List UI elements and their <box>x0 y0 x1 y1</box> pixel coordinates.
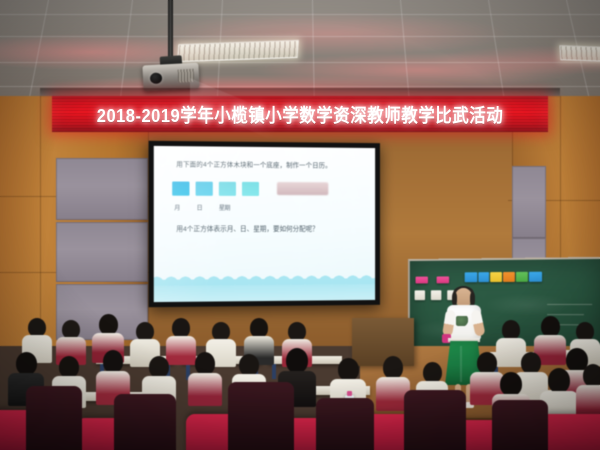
teacher-hair-right <box>470 292 475 306</box>
teacher-skirt-fold <box>460 346 462 382</box>
slide-cube-2 <box>196 181 213 195</box>
slide-base-block <box>277 182 328 195</box>
student <box>188 352 222 404</box>
blackboard-card-blue-2 <box>478 272 489 282</box>
slide-cube-3 <box>219 181 236 195</box>
foreground-student-head <box>26 386 82 450</box>
ceiling-red-reflection <box>0 0 600 96</box>
slide-question-1: 用下面的4个正方体木块和一个底座，制作一个日历。 <box>164 160 365 172</box>
event-banner: 2018-2019学年小榄镇小学数学资深教师教学比武活动 <box>52 96 548 132</box>
projector-lens-icon <box>150 72 163 84</box>
classroom-photo: 2018-2019学年小榄镇小学数学资深教师教学比武活动 用下面的4个正方体木块… <box>0 0 600 450</box>
acoustic-panel-left-1 <box>56 158 148 220</box>
student <box>576 364 600 420</box>
blackboard-card-pink-2 <box>437 276 450 283</box>
teacher-hair-left <box>452 292 457 306</box>
blackboard-card-pink-1 <box>416 277 428 284</box>
projector-vent <box>178 69 195 83</box>
classroom-chair <box>540 414 600 450</box>
slide-cube-1 <box>172 181 189 195</box>
event-banner-text: 2018-2019学年小榄镇小学数学资深教师教学比武活动 <box>97 101 503 128</box>
foreground-student-head <box>404 390 466 450</box>
slide-cube-row <box>164 181 365 196</box>
slide-label-weekday: 星期 <box>219 202 230 211</box>
blackboard-card-white-2 <box>431 290 442 300</box>
teacher-shirt-print <box>456 316 469 326</box>
blackboard-card-white-1 <box>415 290 425 300</box>
slide-label-month: 月 <box>174 202 180 211</box>
acoustic-panel-left-2 <box>56 222 148 282</box>
projection-screen: 用下面的4个正方体木块和一个底座，制作一个日历。 月 日 星期 用4个正方体表示… <box>154 146 375 302</box>
slide-cube-4 <box>242 181 259 195</box>
ceiling <box>0 0 600 96</box>
projection-screen-frame: 用下面的4个正方体木块和一个底座，制作一个日历。 月 日 星期 用4个正方体表示… <box>149 141 380 307</box>
slide-wave-decoration <box>154 278 375 302</box>
foreground-student-head <box>228 382 294 450</box>
blackboard-card-orange <box>503 272 515 282</box>
foreground-student-head <box>316 398 374 450</box>
slide-question-2: 用4个正方体表示月、日、星期，要如何分配呢？ <box>164 224 365 235</box>
foreground-student-head <box>114 394 176 450</box>
slide-label-day: 日 <box>197 202 203 211</box>
blackboard-card-blue <box>465 272 478 282</box>
blackboard-card-green <box>516 272 528 282</box>
blackboard-card-yellow <box>490 272 502 282</box>
slide-cube-labels: 月 日 星期 <box>164 202 365 211</box>
bottle-cap <box>347 391 352 396</box>
blackboard-card-blue-3 <box>529 272 542 282</box>
slide-content: 用下面的4个正方体木块和一个底座，制作一个日历。 月 日 星期 用4个正方体表示… <box>154 146 375 302</box>
acoustic-panel-right-1 <box>512 166 546 238</box>
foreground-student-head <box>492 400 548 450</box>
